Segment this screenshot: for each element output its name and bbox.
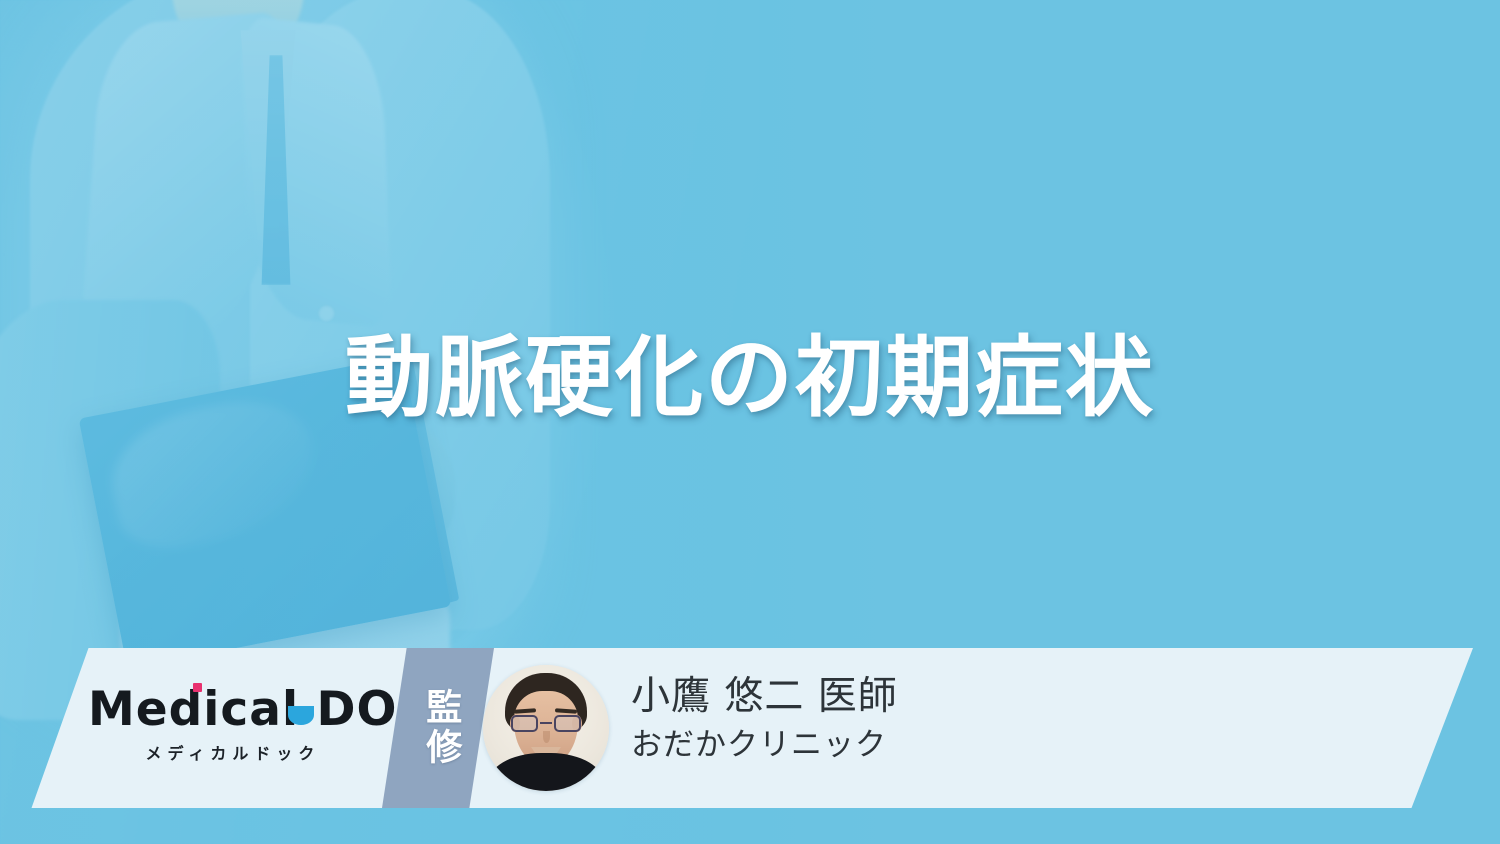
supervision-badge-label: 監修: [419, 688, 461, 768]
logo-wordmark: Medical DOC: [88, 686, 433, 733]
supervisor-name: 小鷹 悠二 医師: [631, 673, 898, 721]
avatar-glasses-lens-left: [511, 715, 538, 732]
logo-subtitle: メディカルドック: [88, 740, 378, 764]
coat-button: [318, 305, 335, 322]
avatar-glasses-icon: [511, 715, 581, 732]
supervisor-clinic: おだかクリニック: [631, 727, 898, 764]
slide-root: 動脈硬化の初期症状 Medical DOC メディカルドック 監修: [0, 0, 1500, 844]
avatar-glasses-lens-right: [554, 715, 581, 732]
logo-wordmark-text: Medical DOC: [88, 682, 433, 737]
avatar-glasses-bridge: [540, 722, 552, 724]
medical-doc-logo: Medical DOC メディカルドック: [88, 686, 378, 764]
folder-sheen: [101, 389, 327, 558]
avatar: [483, 665, 609, 791]
supervisor-info: 小鷹 悠二 医師 おだかクリニック: [631, 673, 898, 764]
avatar-nose: [543, 731, 550, 743]
credit-bar: Medical DOC メディカルドック 監修: [0, 648, 1500, 808]
logo-pink-dot-icon: [193, 683, 202, 692]
logo-o-liquid-fill-icon: [288, 706, 314, 725]
